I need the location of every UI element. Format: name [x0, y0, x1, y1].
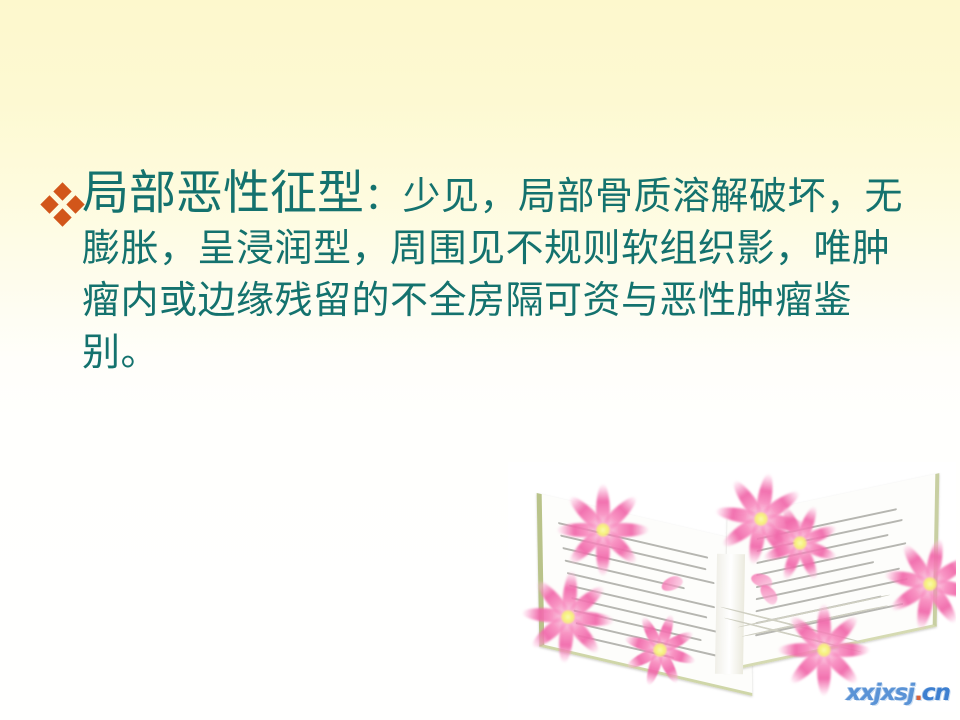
watermark-dot: .	[914, 680, 922, 706]
picture-stage: xxjxsj.cn	[508, 462, 956, 712]
watermark-part2: cn	[922, 680, 950, 706]
book-spine	[715, 554, 745, 674]
lead-phrase: 局部恶性征型	[82, 168, 364, 220]
watermark-part1: xxjxsj	[846, 680, 914, 706]
four-diamond-bullet-icon	[42, 184, 84, 226]
decorative-book-image: xxjxsj.cn	[508, 462, 956, 712]
bullet-paragraph-row: 局部恶性征型：少见，局部骨质溶解破坏，无膨胀，呈浸润型，周围见不规则软组织影，唯…	[38, 168, 928, 379]
content-text-block: 局部恶性征型：少见，局部骨质溶解破坏，无膨胀，呈浸润型，周围见不规则软组织影，唯…	[38, 168, 928, 379]
slide-canvas: 局部恶性征型：少见，局部骨质溶解破坏，无膨胀，呈浸润型，周围见不规则软组织影，唯…	[0, 0, 960, 720]
watermark-label: xxjxsj.cn	[846, 680, 950, 706]
body-paragraph: 局部恶性征型：少见，局部骨质溶解破坏，无膨胀，呈浸润型，周围见不规则软组织影，唯…	[38, 168, 928, 379]
